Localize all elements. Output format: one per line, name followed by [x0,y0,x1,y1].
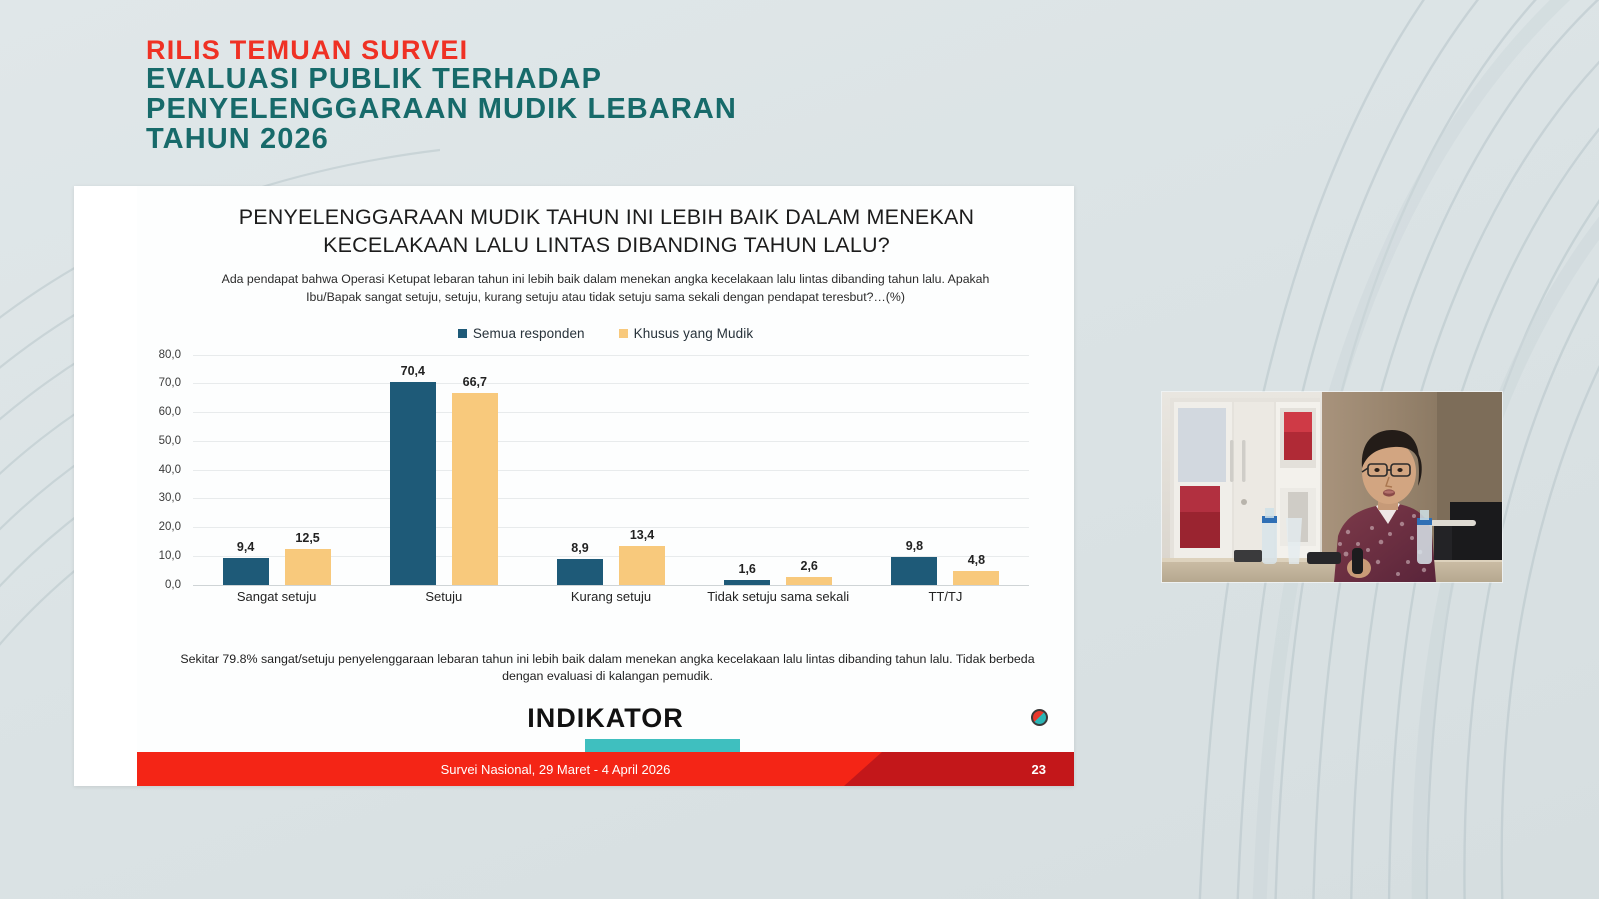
chart-note: Sekitar 79.8% sangat/setuju penyelenggar… [173,651,1042,686]
bar-column[interactable]: 1,6 [724,355,770,585]
header-line-2: PENYELENGGARAAN MUDIK LEBARAN [146,94,737,124]
bar[interactable] [223,558,269,585]
presentation-header: RILIS TEMUAN SURVEI EVALUASI PUBLIK TERH… [146,36,737,155]
y-axis-tick: 10,0 [159,550,181,562]
bar[interactable] [724,580,770,585]
x-axis-label: Kurang setuju [527,589,694,605]
header-line-1: EVALUASI PUBLIK TERHADAP [146,64,737,94]
slide-content: PENYELENGGARAAN MUDIK TAHUN INI LEBIH BA… [137,186,1074,752]
indikator-logo: INDIKATOR [137,703,1074,741]
bar-group: 9,412,5 [193,355,360,585]
bar-column[interactable]: 13,4 [619,355,665,585]
footer-survey-label: Survei Nasional, 29 Maret - 4 April 2026 [137,752,1074,786]
x-axis-labels: Sangat setujuSetujuKurang setujuTidak se… [193,589,1029,605]
x-axis-label: Sangat setuju [193,589,360,605]
bar-column[interactable]: 66,7 [452,355,498,585]
bar-column[interactable]: 9,8 [891,355,937,585]
bar-value-label: 13,4 [630,528,654,542]
slide-panel: PENYELENGGARAAN MUDIK TAHUN INI LEBIH BA… [74,186,1074,786]
plot-area: 9,412,570,466,78,913,41,62,69,84,8 [193,355,1029,586]
chart-title: PENYELENGGARAAN MUDIK TAHUN INI LEBIH BA… [179,204,1034,259]
bar[interactable] [891,557,937,585]
bar-value-label: 2,6 [801,559,818,573]
bar-group: 8,913,4 [527,355,694,585]
bar-value-label: 4,8 [968,553,985,567]
y-axis-tick: 40,0 [159,464,181,476]
footer-teal-tab [585,739,740,752]
y-axis-tick: 60,0 [159,406,181,418]
bar-value-label: 66,7 [463,375,487,389]
bar[interactable] [557,559,603,585]
legend-label: Khusus yang Mudik [634,326,754,341]
header-line-3: TAHUN 2026 [146,124,737,154]
y-axis-tick: 80,0 [159,349,181,361]
legend-label: Semua responden [473,326,585,341]
x-axis-label: Tidak setuju sama sekali [695,589,862,605]
chart-plot-region: 80,070,060,050,040,030,020,010,00,0 9,41… [137,355,1029,605]
bar-column[interactable]: 12,5 [285,355,331,585]
y-axis-tick: 0,0 [165,579,181,591]
bar-group: 1,62,6 [695,355,862,585]
bar-column[interactable]: 70,4 [390,355,436,585]
bar-groups: 9,412,570,466,78,913,41,62,69,84,8 [193,355,1029,585]
logo-text: INDIKATOR [527,703,684,734]
bar[interactable] [390,382,436,584]
header-line-eyebrow: RILIS TEMUAN SURVEI [146,36,737,64]
bar-value-label: 8,9 [571,541,588,555]
bar-value-label: 70,4 [401,364,425,378]
bar-column[interactable]: 8,9 [557,355,603,585]
bar-value-label: 12,5 [295,531,319,545]
video-frame [1162,392,1502,582]
speaker-video-feed[interactable] [1162,392,1502,582]
y-axis: 80,070,060,050,040,030,020,010,00,0 [137,355,185,585]
bar-value-label: 9,4 [237,540,254,554]
y-axis-tick: 20,0 [159,521,181,533]
bar-value-label: 1,6 [739,562,756,576]
y-axis-tick: 30,0 [159,492,181,504]
bar-group: 70,466,7 [360,355,527,585]
bar-group: 9,84,8 [862,355,1029,585]
bar-column[interactable]: 4,8 [953,355,999,585]
logo-circle-icon [1031,709,1048,726]
x-axis-label: TT/TJ [862,589,1029,605]
bar[interactable] [285,549,331,585]
bar-value-label: 9,8 [906,539,923,553]
legend-swatch-icon [619,329,628,338]
bar[interactable] [452,393,498,585]
legend-item-khusus-yang-mudik: Khusus yang Mudik [619,326,754,341]
legend-item-semua-responden: Semua responden [458,326,585,341]
y-axis-tick: 70,0 [159,377,181,389]
y-axis-tick: 50,0 [159,435,181,447]
bar-column[interactable]: 2,6 [786,355,832,585]
bar-column[interactable]: 9,4 [223,355,269,585]
slide-footer: Survei Nasional, 29 Maret - 4 April 2026… [137,752,1074,786]
chart-subtitle: Ada pendapat bahwa Operasi Ketupat lebar… [217,271,994,307]
chart-legend: Semua responden Khusus yang Mudik [137,326,1074,341]
legend-swatch-icon [458,329,467,338]
bar[interactable] [786,577,832,584]
bar[interactable] [953,571,999,585]
x-axis-label: Setuju [360,589,527,605]
bar[interactable] [619,546,665,585]
footer-page-number: 23 [1032,752,1046,786]
